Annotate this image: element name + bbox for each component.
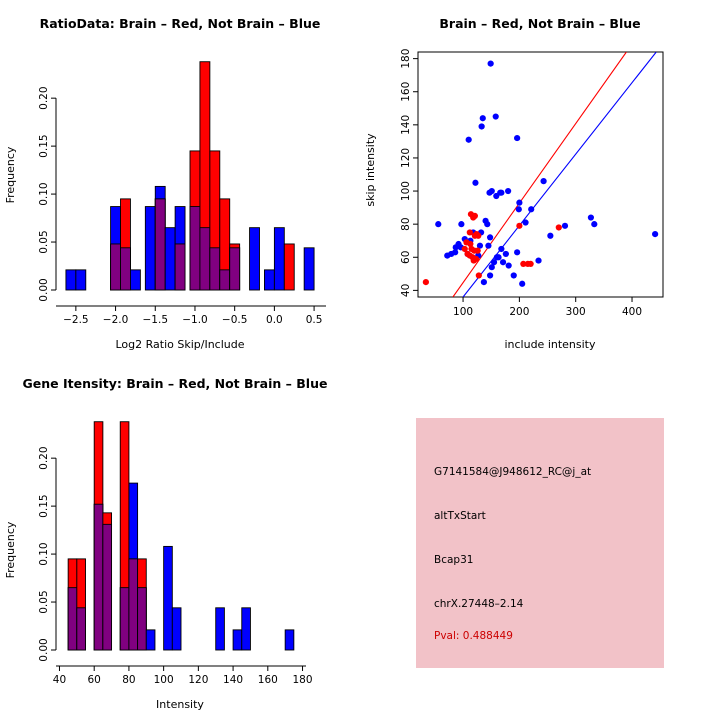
x-axis-tick-label: 80 (122, 674, 135, 686)
hist-bar-overlap (68, 588, 77, 650)
scatter-point-not-brain (516, 200, 522, 206)
ratio-y-axis-label: Frequency (4, 146, 17, 203)
scatter-point-not-brain (487, 234, 493, 240)
scatter-point-not-brain (486, 190, 492, 196)
scatter-point-not-brain (479, 123, 485, 129)
locus-text: chrX.27448–2.14 (434, 598, 523, 610)
x-axis-tick-label: −0.5 (222, 314, 248, 326)
y-axis-tick-label: 0.00 (38, 278, 50, 301)
hist-bar-overlap (121, 248, 131, 290)
scatter-point-not-brain (493, 113, 499, 119)
hist-bar-not-brain (250, 228, 260, 290)
x-axis-tick-label: 180 (293, 674, 313, 686)
hist-bar-overlap (210, 248, 220, 290)
scatter-point-not-brain (506, 262, 512, 268)
scatter-point-not-brain (522, 219, 528, 225)
ratio-histogram-svg: RatioData: Brain – Red, Not Brain – Blue… (0, 0, 360, 360)
y-axis-tick-label: 120 (400, 148, 412, 168)
hist-bar-overlap (120, 588, 129, 650)
y-axis-tick-label: 0.15 (38, 494, 50, 517)
pval-text: Pval: 0.488449 (434, 630, 513, 642)
hist-bar-overlap (155, 199, 165, 290)
gene-histogram-title: Gene Itensity: Brain – Red, Not Brain – … (23, 376, 328, 391)
hist-bar-brain (284, 244, 294, 290)
scatter-point-not-brain (535, 257, 541, 263)
y-axis-tick-label: 180 (400, 49, 412, 69)
panel-ratio-histogram: RatioData: Brain – Red, Not Brain – Blue… (0, 0, 360, 360)
scatter-point-not-brain (480, 115, 486, 121)
scatter-point-not-brain (528, 206, 534, 212)
gene-histogram-svg: Gene Itensity: Brain – Red, Not Brain – … (0, 360, 360, 720)
scatter-point-not-brain (505, 188, 511, 194)
scatter-point-not-brain (495, 254, 501, 260)
scatter-plot-svg: Brain – Red, Not Brain – Blue 4060801001… (360, 0, 720, 360)
x-axis-tick-label: 100 (453, 306, 473, 318)
scatter-point-not-brain (488, 60, 494, 66)
panel-scatter-plot: Brain – Red, Not Brain – Blue 4060801001… (360, 0, 720, 360)
hist-bar-overlap (94, 504, 103, 650)
hist-bar-not-brain (172, 608, 181, 650)
scatter-point-brain (516, 223, 522, 229)
panel-annotation-info: G7141584@J948612_RC@j_at altTxStart Bcap… (360, 360, 720, 720)
scatter-point-not-brain (652, 231, 658, 237)
hist-bar-overlap (190, 207, 200, 290)
scatter-y-axis-label: skip intensity (364, 133, 377, 207)
hist-bar-overlap (200, 228, 210, 290)
hist-bar-overlap (111, 244, 121, 290)
scatter-point-brain (556, 224, 562, 230)
y-axis-tick-label: 0.00 (38, 638, 50, 661)
x-axis-tick-label: 140 (223, 674, 243, 686)
y-axis-tick-label: 0.05 (38, 590, 50, 613)
y-axis-tick-label: 160 (400, 82, 412, 102)
gene-histogram-bars (68, 422, 294, 650)
scatter-point-not-brain (472, 180, 478, 186)
hist-bar-overlap (77, 608, 86, 650)
x-axis-tick-label: 120 (188, 674, 208, 686)
scatter-point-not-brain (498, 190, 504, 196)
ratio-histogram-title: RatioData: Brain – Red, Not Brain – Blue (40, 16, 321, 31)
scatter-point-not-brain (484, 221, 490, 227)
scatter-point-not-brain (435, 221, 441, 227)
y-axis-tick-label: 0.10 (38, 182, 50, 205)
ratio-x-axis-label: Log2 Ratio Skip/Include (115, 338, 244, 351)
x-axis-tick-label: 0.0 (266, 314, 283, 326)
y-axis-tick-label: 0.20 (38, 86, 50, 109)
scatter-point-brain (472, 233, 478, 239)
scatter-point-not-brain (444, 253, 450, 259)
hist-bar-overlap (103, 524, 112, 650)
x-axis-tick-label: −2.5 (63, 314, 89, 326)
scatter-point-not-brain (498, 246, 504, 252)
hist-bar-overlap (129, 559, 138, 650)
scatter-point-not-brain (547, 233, 553, 239)
hist-bar-not-brain (66, 270, 76, 290)
scatter-point-brain (423, 279, 429, 285)
gene-x-axis-label: Intensity (156, 698, 204, 711)
scatter-point-not-brain (514, 249, 520, 255)
scatter-axes: 406080100120140160180100200300400 (400, 49, 642, 318)
scatter-point-not-brain (562, 223, 568, 229)
scatter-point-not-brain (485, 243, 491, 249)
scatter-point-not-brain (540, 178, 546, 184)
gene-y-axis-label: Frequency (4, 521, 17, 578)
x-axis-tick-label: 0.5 (306, 314, 323, 326)
y-axis-tick-label: 0.10 (38, 542, 50, 565)
x-axis-tick-label: 100 (154, 674, 174, 686)
scatter-point-not-brain (503, 251, 509, 257)
scatter-point-not-brain (519, 281, 525, 287)
scatter-point-brain (470, 214, 476, 220)
ratio-histogram-bars (66, 62, 314, 290)
scatter-point-not-brain (481, 279, 487, 285)
x-axis-tick-label: 400 (622, 306, 642, 318)
scatter-point-brain (471, 257, 477, 263)
scatter-point-brain (475, 248, 481, 254)
hist-bar-not-brain (130, 270, 140, 290)
hist-bar-not-brain (242, 608, 251, 650)
y-axis-tick-label: 0.05 (38, 230, 50, 253)
probe-id-text: G7141584@J948612_RC@j_at (434, 466, 591, 478)
hist-bar-not-brain (274, 228, 284, 290)
scatter-point-brain (528, 261, 534, 267)
event-type-text: altTxStart (434, 510, 486, 522)
scatter-point-not-brain (487, 272, 493, 278)
panel-gene-intensity-histogram: Gene Itensity: Brain – Red, Not Brain – … (0, 360, 360, 720)
hist-bar-not-brain (145, 207, 155, 290)
scatter-point-not-brain (511, 272, 517, 278)
scatter-point-not-brain (514, 135, 520, 141)
hist-bar-overlap (230, 248, 240, 290)
hist-bar-not-brain (285, 630, 294, 650)
scatter-title: Brain – Red, Not Brain – Blue (439, 16, 640, 31)
hist-bar-overlap (138, 588, 147, 650)
x-axis-tick-label: 160 (258, 674, 278, 686)
x-axis-tick-label: 60 (88, 674, 101, 686)
y-axis-tick-label: 40 (400, 284, 412, 297)
scatter-point-not-brain (516, 206, 522, 212)
y-axis-tick-label: 0.20 (38, 446, 50, 469)
x-axis-tick-label: 300 (566, 306, 586, 318)
scatter-point-not-brain (489, 264, 495, 270)
y-axis-tick-label: 140 (400, 115, 412, 135)
x-axis-tick-label: 200 (509, 306, 529, 318)
hist-bar-not-brain (233, 630, 242, 650)
hist-bar-not-brain (216, 608, 225, 650)
scatter-point-not-brain (458, 221, 464, 227)
hist-bar-not-brain (164, 546, 173, 650)
hist-bar-not-brain (146, 630, 155, 650)
x-axis-tick-label: −2.0 (103, 314, 129, 326)
info-box: G7141584@J948612_RC@j_at altTxStart Bcap… (416, 418, 664, 668)
x-axis-tick-label: 40 (53, 674, 66, 686)
scatter-point-not-brain (591, 221, 597, 227)
hist-bar-not-brain (264, 270, 274, 290)
gene-symbol-text: Bcap31 (434, 554, 473, 566)
y-axis-tick-label: 60 (400, 251, 412, 264)
hist-bar-not-brain (304, 248, 314, 290)
scatter-point-not-brain (588, 214, 594, 220)
scatter-point-not-brain (466, 137, 472, 143)
scatter-reference-lines (453, 52, 656, 297)
y-axis-tick-label: 0.15 (38, 134, 50, 157)
x-axis-tick-label: −1.5 (143, 314, 169, 326)
y-axis-tick-label: 80 (400, 217, 412, 230)
hist-bar-overlap (220, 270, 230, 290)
scatter-point-not-brain (500, 259, 506, 265)
x-axis-tick-label: −1.0 (182, 314, 208, 326)
hist-bar-not-brain (76, 270, 86, 290)
scatter-point-brain (476, 272, 482, 278)
y-axis-tick-label: 100 (400, 181, 412, 201)
hist-bar-overlap (175, 244, 185, 290)
scatter-x-axis-label: include intensity (504, 338, 596, 351)
hist-bar-not-brain (165, 228, 175, 290)
scatter-point-brain (467, 229, 473, 235)
